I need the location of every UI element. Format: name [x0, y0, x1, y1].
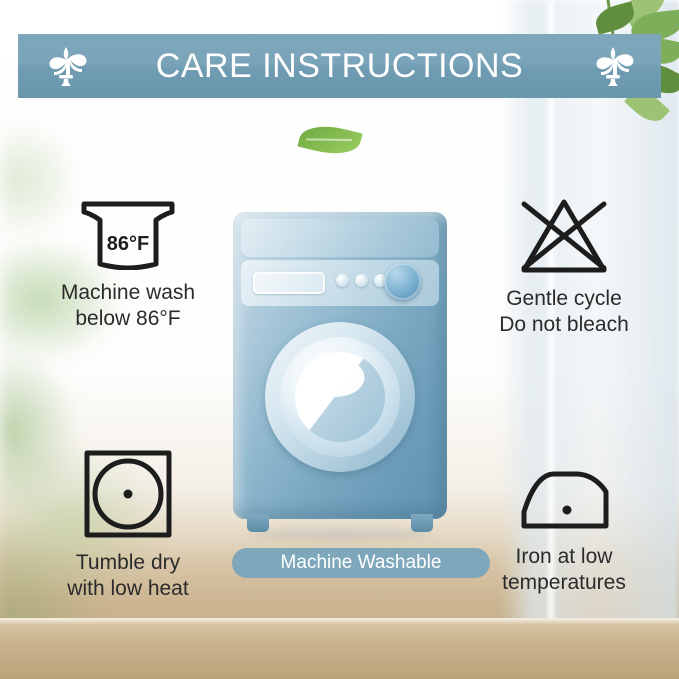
caption-line-1: Iron at low [458, 544, 670, 570]
detergent-drawer [253, 272, 325, 294]
caption-line-2: temperatures [458, 570, 670, 596]
symbol-gentle-cycle-no-bleach: Gentle cycle Do not bleach [458, 196, 670, 338]
symbol-tumble-dry-low: Tumble dry with low heat [22, 448, 234, 602]
indicator-light-2 [355, 274, 368, 287]
machine-foot-left [247, 514, 269, 532]
symbol-machine-wash: 86°F Machine wash below 86°F [22, 198, 234, 332]
care-instructions-graphic: CARE INSTRUCTIONS 86°F Machine wash belo… [0, 0, 679, 679]
program-knob [384, 263, 421, 300]
crossed-triangle-icon [516, 196, 612, 276]
page-title: CARE INSTRUCTIONS [156, 49, 523, 83]
machine-washable-badge: Machine Washable [232, 548, 490, 578]
indicator-light-1 [336, 274, 349, 287]
caption-line-2: below 86°F [22, 306, 234, 332]
machine-shadow [251, 528, 431, 540]
badge-label: Machine Washable [281, 552, 442, 574]
wash-basin-icon: 86°F [78, 198, 178, 270]
iron-icon [510, 462, 618, 536]
fleur-de-lis-icon [585, 44, 641, 88]
symbol-iron-low: Iron at low temperatures [458, 462, 670, 596]
caption-line-1: Gentle cycle [458, 286, 670, 312]
wash-temperature-label: 86°F [107, 233, 149, 255]
tumble-dry-icon [82, 448, 174, 540]
machine-foot-right [411, 514, 433, 532]
background-counter [0, 618, 679, 679]
washing-machine-illustration [233, 212, 447, 537]
caption-line-1: Tumble dry [22, 550, 234, 576]
caption-line-1: Machine wash [22, 280, 234, 306]
machine-top-panel [241, 219, 439, 257]
caption-line-2: Do not bleach [458, 312, 670, 338]
header-banner: CARE INSTRUCTIONS [18, 34, 661, 98]
fleur-de-lis-icon [38, 44, 94, 88]
caption-line-2: with low heat [22, 576, 234, 602]
